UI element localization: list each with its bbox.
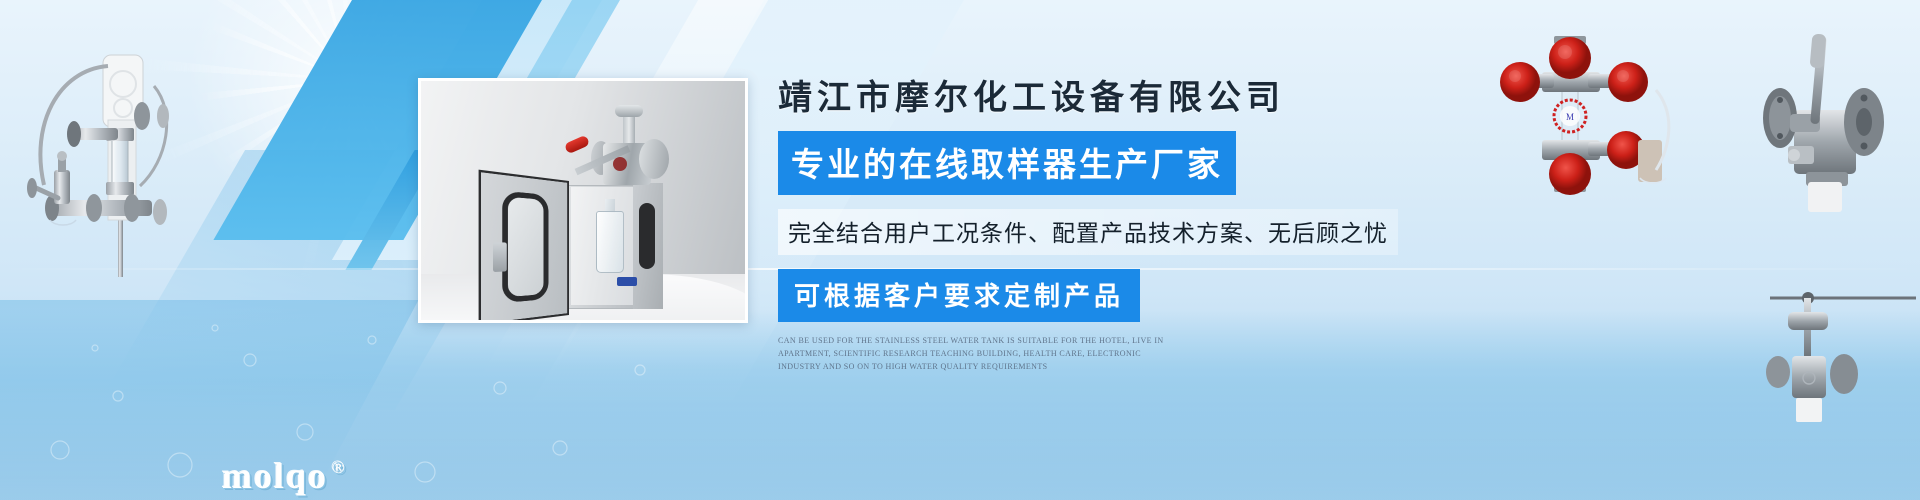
cta-badge[interactable]: 可根据客户要求定制产品: [778, 269, 1140, 322]
company-name: 靖江市摩尔化工设备有限公司: [778, 70, 1398, 119]
headline-row: 专业的在线取样器生产厂家: [778, 131, 1398, 195]
svg-text:M: M: [1566, 112, 1574, 122]
right-bottom-equipment-image: [1766, 272, 1920, 442]
cta-row: 可根据客户要求定制产品: [778, 269, 1398, 322]
left-equipment-image: [8, 20, 188, 280]
promo-banner: M 靖江市摩尔化工设备有限公司 专业的在线取样器生产厂家: [0, 0, 1920, 500]
headline-badge: 专业的在线取样器生产厂家: [778, 131, 1236, 195]
center-product-photo: [418, 78, 748, 323]
brand-logo: molqo ®: [222, 455, 347, 497]
right-top-equipment-image: M: [1480, 28, 1710, 198]
banner-copy: 靖江市摩尔化工设备有限公司 专业的在线取样器生产厂家 完全结合用户工况条件、配置…: [778, 70, 1398, 373]
registered-trademark-icon: ®: [332, 459, 347, 476]
bubbles-decoration: [0, 300, 700, 500]
subline-row: 完全结合用户工况条件、配置产品技术方案、无后顾之忧: [778, 195, 1398, 255]
right-side-equipment-image: [1742, 22, 1920, 222]
english-paragraph: CAN BE USED FOR THE STAINLESS STEEL WATE…: [778, 334, 1178, 373]
subline-text: 完全结合用户工况条件、配置产品技术方案、无后顾之忧: [778, 209, 1398, 255]
logo-wordmark: molqo: [222, 455, 328, 497]
